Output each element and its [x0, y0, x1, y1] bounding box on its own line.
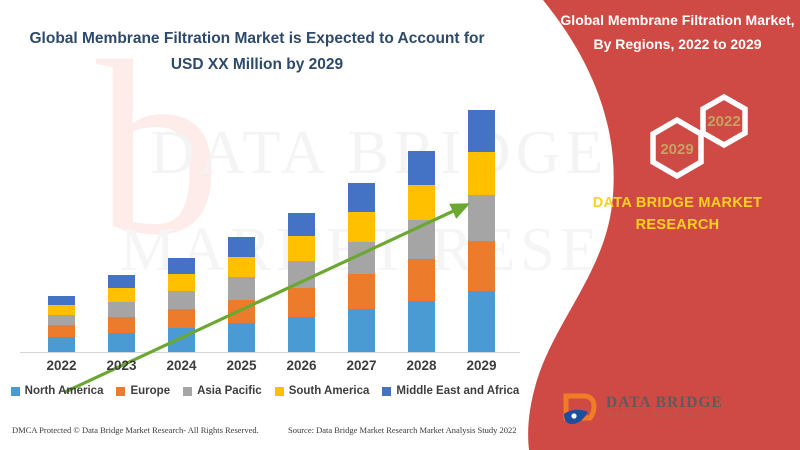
- x-label-2028: 2028: [392, 358, 452, 373]
- legend-swatch-icon: [116, 387, 125, 396]
- legend-swatch-icon: [275, 387, 284, 396]
- x-label-2023: 2023: [92, 358, 152, 373]
- bar-segment: [468, 110, 495, 152]
- chart-panel: Global Membrane Filtration Market is Exp…: [0, 0, 545, 450]
- x-label-2024: 2024: [152, 358, 212, 373]
- bar-segment: [468, 152, 495, 195]
- hexagon-2022-label: 2022: [707, 113, 740, 130]
- infographic-slide: b DATA BRIDGE MARKET RESEARCH Global Mem…: [0, 0, 800, 450]
- company-logo: DATA BRIDGE MARKET RESEARCH: [560, 392, 740, 434]
- logo-mark-icon: [560, 392, 604, 432]
- plot-area: [0, 95, 530, 355]
- x-axis-labels: 20222023202420252026202720282029: [0, 358, 530, 380]
- logo-name: DATA BRIDGE: [606, 394, 723, 412]
- hexagon-2029-label: 2029: [660, 141, 693, 158]
- chart-title: Global Membrane Filtration Market is Exp…: [22, 26, 492, 78]
- trend-arrow: [0, 190, 530, 450]
- x-label-2022: 2022: [32, 358, 92, 373]
- legend-item-asia-pacific[interactable]: Asia Pacific: [183, 385, 262, 397]
- red-panel-content: Global Membrane Filtration Market, By Re…: [545, 0, 800, 450]
- legend-label: North America: [25, 385, 104, 397]
- right-panel-title-line1: Global Membrane Filtration Market,: [555, 8, 800, 32]
- legend-item-europe[interactable]: Europe: [116, 385, 170, 397]
- x-label-2029: 2029: [452, 358, 512, 373]
- brand-line1: DATA BRIDGE MARKET: [565, 192, 790, 214]
- copyright-text: DMCA Protected © Data Bridge Market Rese…: [12, 425, 259, 435]
- right-panel-title: Global Membrane Filtration Market, By Re…: [555, 8, 800, 56]
- legend-item-middle-east-and-africa[interactable]: Middle East and Africa: [382, 385, 519, 397]
- source-text: Source: Data Bridge Market Research Mark…: [288, 425, 517, 435]
- legend-item-north-america[interactable]: North America: [11, 385, 104, 397]
- brand-name: DATA BRIDGE MARKET RESEARCH: [565, 192, 790, 236]
- bar-segment: [408, 151, 435, 185]
- x-label-2026: 2026: [272, 358, 332, 373]
- x-label-2027: 2027: [332, 358, 392, 373]
- legend-swatch-icon: [183, 387, 192, 396]
- legend-swatch-icon: [382, 387, 391, 396]
- logo-subtitle: MARKET RESEARCH: [607, 412, 709, 419]
- right-panel-title-line2: By Regions, 2022 to 2029: [555, 32, 800, 56]
- legend-item-south-america[interactable]: South America: [275, 385, 370, 397]
- hexagon-group: 2022 2029: [555, 78, 800, 188]
- legend-label: Asia Pacific: [197, 385, 262, 397]
- chart-legend: North AmericaEuropeAsia PacificSouth Ame…: [0, 385, 530, 397]
- legend-label: Europe: [130, 385, 170, 397]
- legend-label: South America: [289, 385, 370, 397]
- brand-line2: RESEARCH: [565, 214, 790, 236]
- legend-label: Middle East and Africa: [396, 385, 519, 397]
- legend-swatch-icon: [11, 387, 20, 396]
- x-label-2025: 2025: [212, 358, 272, 373]
- footer: DMCA Protected © Data Bridge Market Rese…: [0, 425, 545, 445]
